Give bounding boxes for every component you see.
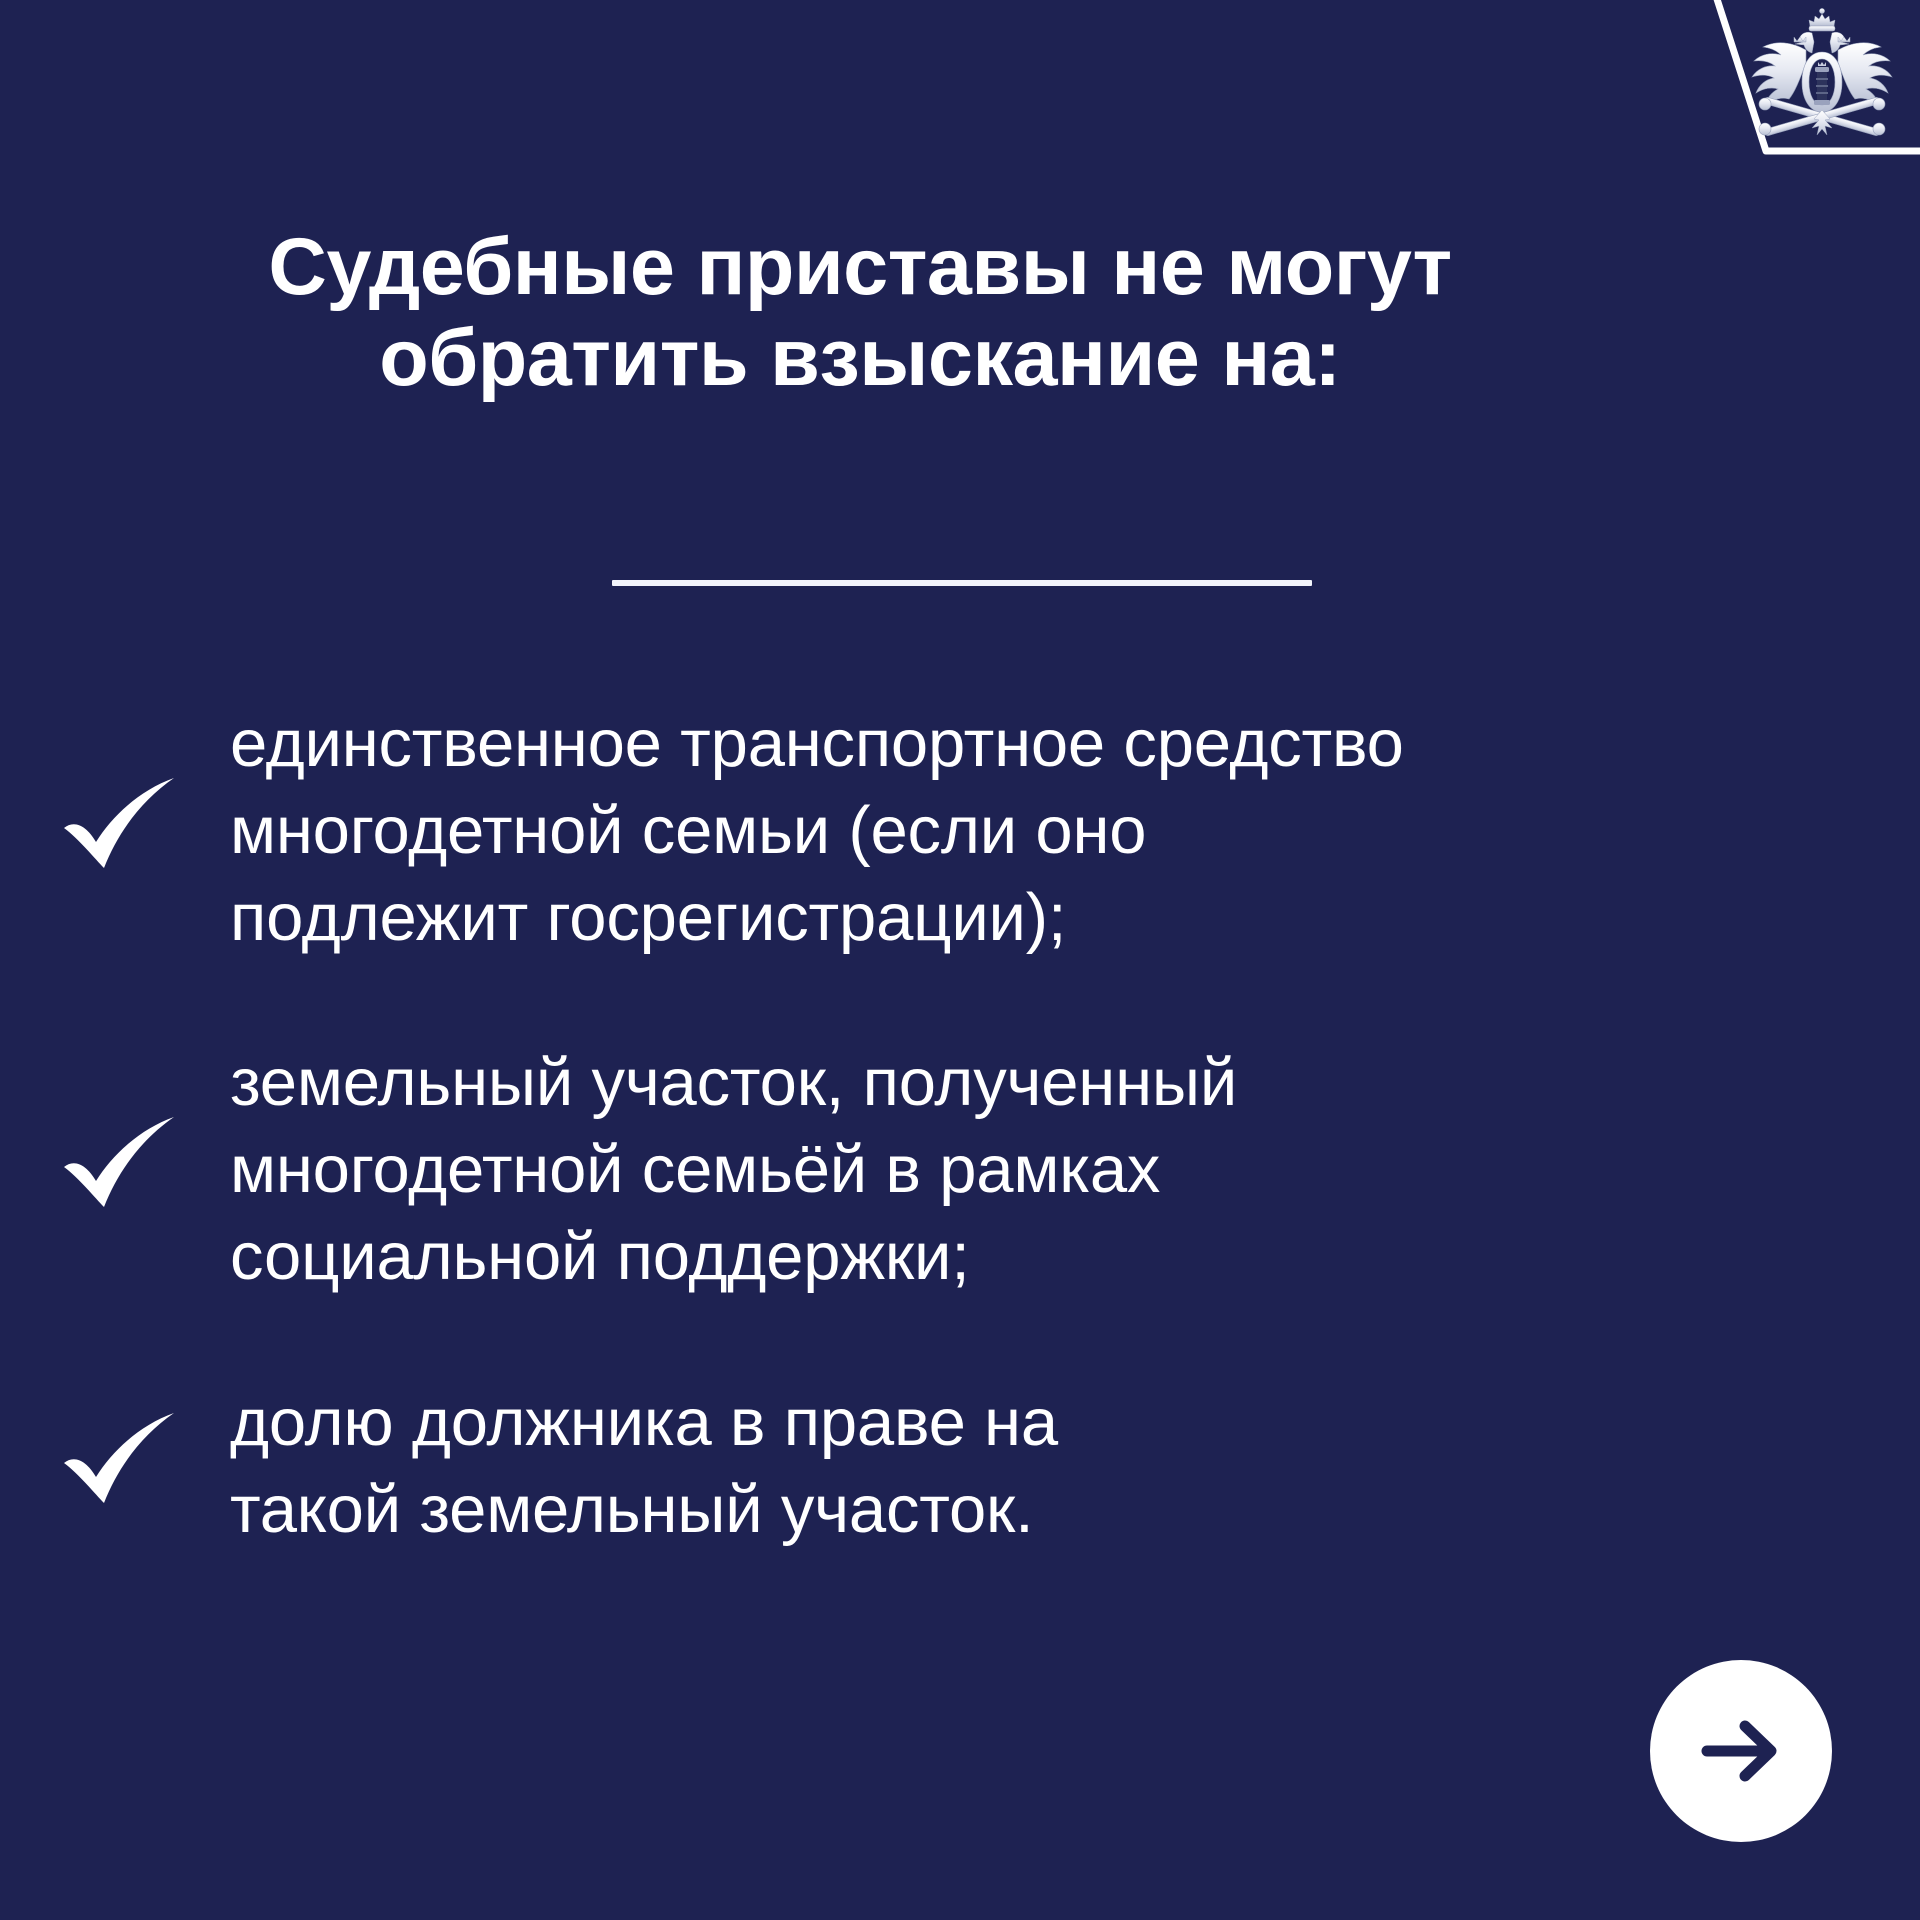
fssp-emblem-icon [1732,6,1912,156]
list-item-text: долю должника в праве на такой земельный… [230,1379,1650,1553]
title-divider [612,580,1312,586]
checkmark-icon [55,1110,185,1230]
page-title: Судебные приставы не могут обратить взыс… [120,222,1600,403]
arrow-right-icon [1693,1703,1789,1799]
list-item-text: единственное транспортное средство много… [230,700,1650,961]
list-item: земельный участок, полученный многодетно… [0,1039,1920,1300]
bullet-list: единственное транспортное средство много… [0,700,1920,1553]
checkmark-icon [55,771,185,891]
list-item: долю должника в праве на такой земельный… [0,1379,1920,1553]
list-item-text: земельный участок, полученный многодетно… [230,1039,1650,1300]
next-slide-button[interactable] [1650,1660,1832,1842]
slide-canvas: Судебные приставы не могут обратить взыс… [0,0,1920,1920]
checkmark-icon [55,1406,185,1526]
list-item: единственное транспортное средство много… [0,700,1920,961]
